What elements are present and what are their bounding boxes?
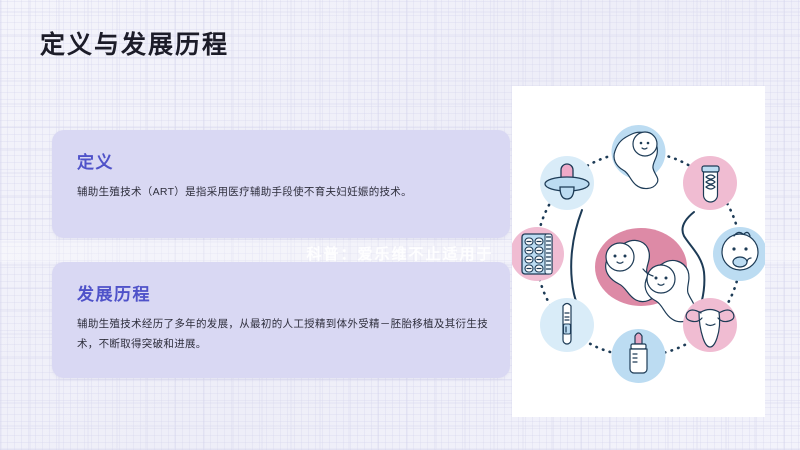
pill-blister-icon [512, 227, 564, 281]
art-cycle-illustration: .ln{fill:none;stroke:#1d3b56;stroke-widt… [512, 86, 765, 417]
fetus-icon [612, 125, 666, 189]
pregnancy-test-icon [540, 298, 594, 352]
baby-face-icon [713, 227, 765, 281]
pacifier-icon [540, 156, 594, 210]
dna-test-tube-icon [683, 156, 737, 210]
slide-root: 定义与发展历程 定义 辅助生殖技术（ART）是指采用医疗辅助手段使不育夫妇妊娠的… [0, 0, 800, 450]
history-card-body: 辅助生殖技术经历了多年的发展，从最初的人工授精到体外受精－胚胎移植及其衍生技术，… [77, 314, 488, 355]
womb-twins-group [595, 228, 695, 322]
definition-card-body: 辅助生殖技术（ART）是指采用医疗辅助手段使不育夫妇妊娠的技术。 [77, 182, 488, 202]
history-card[interactable]: 发展历程 辅助生殖技术经历了多年的发展，从最初的人工授精到体外受精－胚胎移植及其… [52, 262, 510, 378]
baby-bottle-icon [612, 329, 666, 383]
uterus-icon [683, 298, 737, 352]
definition-card[interactable]: 定义 辅助生殖技术（ART）是指采用医疗辅助手段使不育夫妇妊娠的技术。 [52, 130, 510, 238]
definition-card-title: 定义 [77, 148, 114, 173]
illustration-panel: .ln{fill:none;stroke:#1d3b56;stroke-widt… [512, 86, 765, 417]
history-card-title: 发展历程 [77, 280, 151, 305]
page-title: 定义与发展历程 [40, 30, 229, 60]
